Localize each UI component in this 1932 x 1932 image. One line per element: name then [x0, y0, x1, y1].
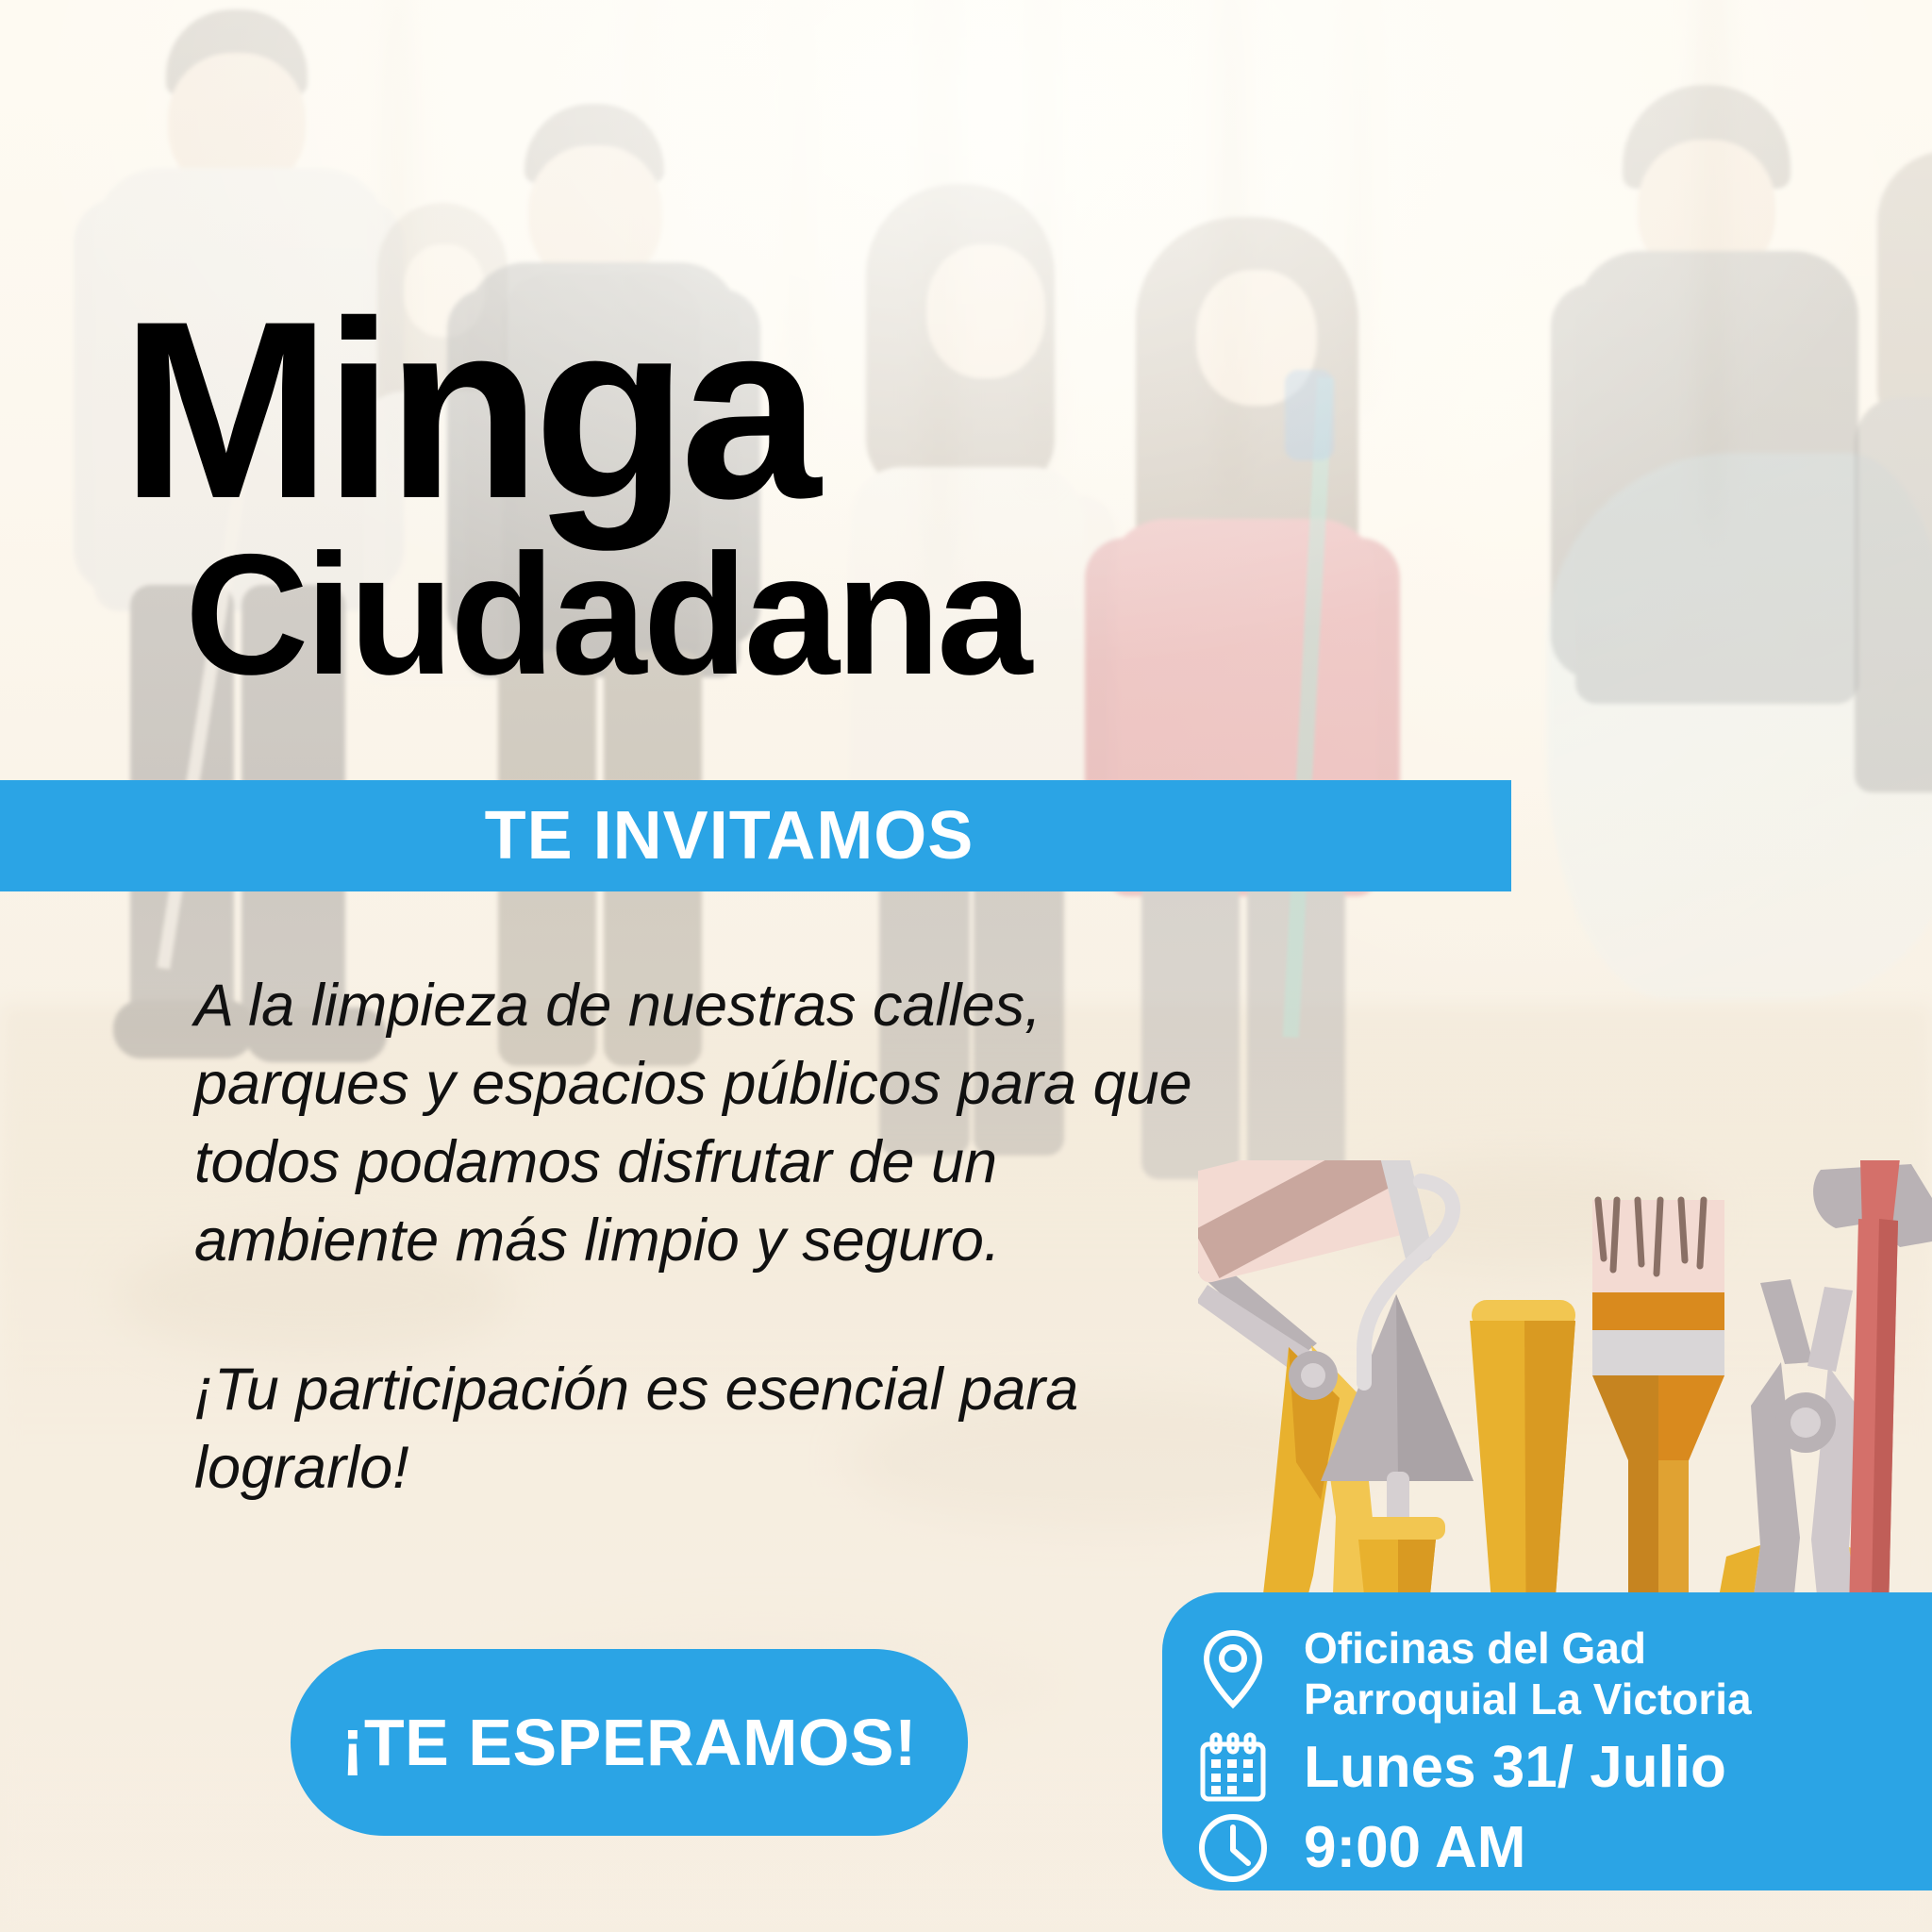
body-paragraph-1: A la limpieza de nuestras calles, parque…	[194, 967, 1194, 1281]
paragraph-spacer	[194, 1281, 1194, 1351]
info-row-date: Lunes 31/ Julio	[1162, 1731, 1932, 1805]
clock-icon	[1162, 1810, 1304, 1886]
location-line-1: Oficinas del Gad	[1304, 1623, 1752, 1674]
date-text: Lunes 31/ Julio	[1304, 1734, 1726, 1801]
te-esperamos-button[interactable]: ¡TE ESPERAMOS!	[291, 1649, 968, 1836]
calendar-icon	[1162, 1731, 1304, 1805]
location-text: Oficinas del Gad Parroquial La Victoria	[1304, 1623, 1752, 1725]
banner-label: TE INVITAMOS	[485, 797, 974, 874]
body-paragraph-2: ¡Tu participación es esencial para logra…	[194, 1351, 1194, 1507]
time-text: 9:00 AM	[1304, 1814, 1525, 1881]
te-invitamos-banner: TE INVITAMOS	[0, 780, 1511, 891]
poster-canvas: Minga Ciudadana TE INVITAMOS A la limpie…	[0, 0, 1932, 1932]
location-pin-icon	[1162, 1628, 1304, 1709]
info-row-time: 9:00 AM	[1162, 1810, 1932, 1886]
title-line-ciudadana: Ciudadana	[185, 528, 1028, 700]
cta-label: ¡TE ESPERAMOS!	[341, 1705, 917, 1780]
location-line-2: Parroquial La Victoria	[1304, 1674, 1752, 1724]
info-row-location: Oficinas del Gad Parroquial La Victoria	[1162, 1623, 1932, 1725]
body-copy: A la limpieza de nuestras calles, parque…	[194, 967, 1194, 1507]
title-line-minga: Minga	[121, 283, 813, 536]
event-info-panel: Oficinas del Gad Parroquial La Victoria	[1162, 1592, 1932, 1890]
